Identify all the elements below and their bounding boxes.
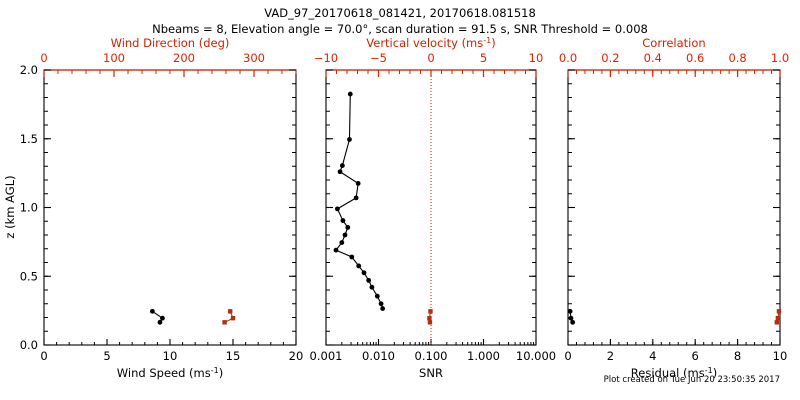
panel-2-datapoint: [370, 285, 375, 290]
panel-3-xticklabel: 6: [692, 349, 699, 363]
figure-subtitle: Nbeams = 8, Elevation angle = 70.0°, sca…: [152, 22, 648, 36]
panel-1-xticklabel: 10: [163, 349, 178, 363]
panel-1-xticklabel-top: 0: [40, 51, 47, 65]
panel-2-datapoint: [339, 240, 344, 245]
y-axis-ticklabel: 1.5: [20, 132, 38, 146]
panel-1-datapoint: [158, 320, 163, 325]
panel-3-xticklabel: 2: [607, 349, 614, 363]
y-axis-ticklabel: 0.5: [20, 269, 38, 283]
panel-1-xticklabel: 0: [40, 349, 47, 363]
y-axis-ticklabel: 2.0: [20, 63, 38, 77]
panel-3-datapoint: [777, 309, 781, 313]
y-axis-label: z (km AGL): [3, 175, 17, 238]
panel-2-xticklabel-top: −5: [370, 51, 387, 65]
panel-3-frame: [568, 70, 780, 345]
panel-1-xticklabel-top: 300: [243, 51, 265, 65]
panel-3-xaxis-title-top: Correlation: [642, 36, 705, 50]
panel-2-datapoint: [345, 225, 350, 230]
panel-2-datapoint: [354, 195, 359, 200]
panel-3-xticklabel-top: 0.2: [601, 51, 619, 65]
panel-1-xticklabel-top: 200: [173, 51, 195, 65]
panel-2-xaxis-title: SNR: [419, 366, 443, 380]
panel-3-xticklabel-top: 1.0: [771, 51, 789, 65]
panel-2-datapoint: [379, 301, 384, 306]
panel-2-datapoint: [428, 320, 432, 324]
vad-profile-figure: VAD_97_20170618_081421, 20170618.081518N…: [0, 0, 800, 400]
panel-2-xticklabel-top: 0: [427, 51, 434, 65]
panel-3-xticklabel: 10: [773, 349, 788, 363]
panel-2-datapoint: [428, 309, 432, 313]
panel-2-datapoint: [356, 264, 361, 269]
panel-3-datapoint: [569, 316, 574, 321]
panel-2-xticklabel: 0.001: [310, 349, 343, 363]
panel-2-xticklabel-top: 5: [480, 51, 487, 65]
panel-3-xticklabel-top: 0.0: [559, 51, 577, 65]
panel-3-datapoint: [570, 320, 575, 325]
panel-1-datapoint: [228, 309, 232, 313]
panel-2-datapoint: [380, 306, 385, 311]
panel-2-xticklabel: 0.010: [362, 349, 395, 363]
panel-2-datapoint: [347, 137, 352, 142]
panel-2-datapoint: [375, 294, 380, 299]
panel-1-frame: [44, 70, 296, 345]
panel-2-datapoint: [362, 270, 367, 275]
panel-1-datapoint: [231, 316, 235, 320]
panel-2-datapoint: [341, 218, 346, 223]
figure-root: VAD_97_20170618_081421, 20170618.081518N…: [0, 0, 800, 400]
panel-1-datapoint: [160, 316, 165, 321]
panel-3-xticklabel-top: 0.4: [644, 51, 662, 65]
panel-3-xticklabel-top: 0.8: [728, 51, 746, 65]
panel-2-datapoint: [334, 248, 339, 253]
panel-3-xticklabel: 4: [649, 349, 656, 363]
panel-3-datapoint: [776, 316, 780, 320]
panel-2-datapoint: [343, 233, 348, 238]
panel-2-datapoint: [356, 181, 361, 186]
figure-title: VAD_97_20170618_081421, 20170618.081518: [264, 6, 536, 20]
panel-1-xaxis-title-top: Wind Direction (deg): [111, 36, 230, 50]
panel-3-datapoint: [775, 320, 779, 324]
panel-2-xticklabel: 1.000: [467, 349, 500, 363]
panel-3-datapoint: [568, 309, 573, 314]
panel-2-datapoint: [427, 316, 431, 320]
y-axis-ticklabel: 0.0: [20, 338, 38, 352]
y-axis-ticklabel: 1.0: [20, 201, 38, 215]
panel-2-xaxis-title-top: Vertical velocity (ms-1): [366, 36, 495, 50]
panel-2-series-line-0: [336, 94, 383, 309]
panel-2-xticklabel: 0.100: [415, 349, 448, 363]
panel-2-datapoint: [349, 255, 354, 260]
panel-3-xticklabel: 8: [734, 349, 741, 363]
panel-1-xticklabel: 5: [103, 349, 110, 363]
panel-3-xticklabel-top: 0.6: [686, 51, 704, 65]
panel-2-datapoint: [340, 163, 345, 168]
panel-2-frame: [326, 70, 536, 345]
panel-1-xticklabel: 15: [226, 349, 241, 363]
panel-2-xticklabel-top: 10: [529, 51, 544, 65]
panel-1-datapoint: [222, 320, 226, 324]
panel-3-xaxis-title: Residual (ms-1): [631, 366, 717, 380]
panel-2-datapoint: [366, 278, 371, 283]
panel-1-xaxis-title: Wind Speed (ms-1): [117, 366, 223, 380]
panel-2-xticklabel-top: −10: [314, 51, 338, 65]
panel-3-xticklabel: 0: [564, 349, 571, 363]
panel-1-xticklabel: 20: [289, 349, 304, 363]
panel-1-datapoint: [150, 309, 155, 314]
panel-2-datapoint: [335, 206, 340, 211]
panel-1-xticklabel-top: 100: [103, 51, 125, 65]
panel-2-datapoint: [348, 92, 353, 97]
panel-2-xticklabel: 10.000: [516, 349, 556, 363]
panel-2-datapoint: [338, 169, 343, 174]
